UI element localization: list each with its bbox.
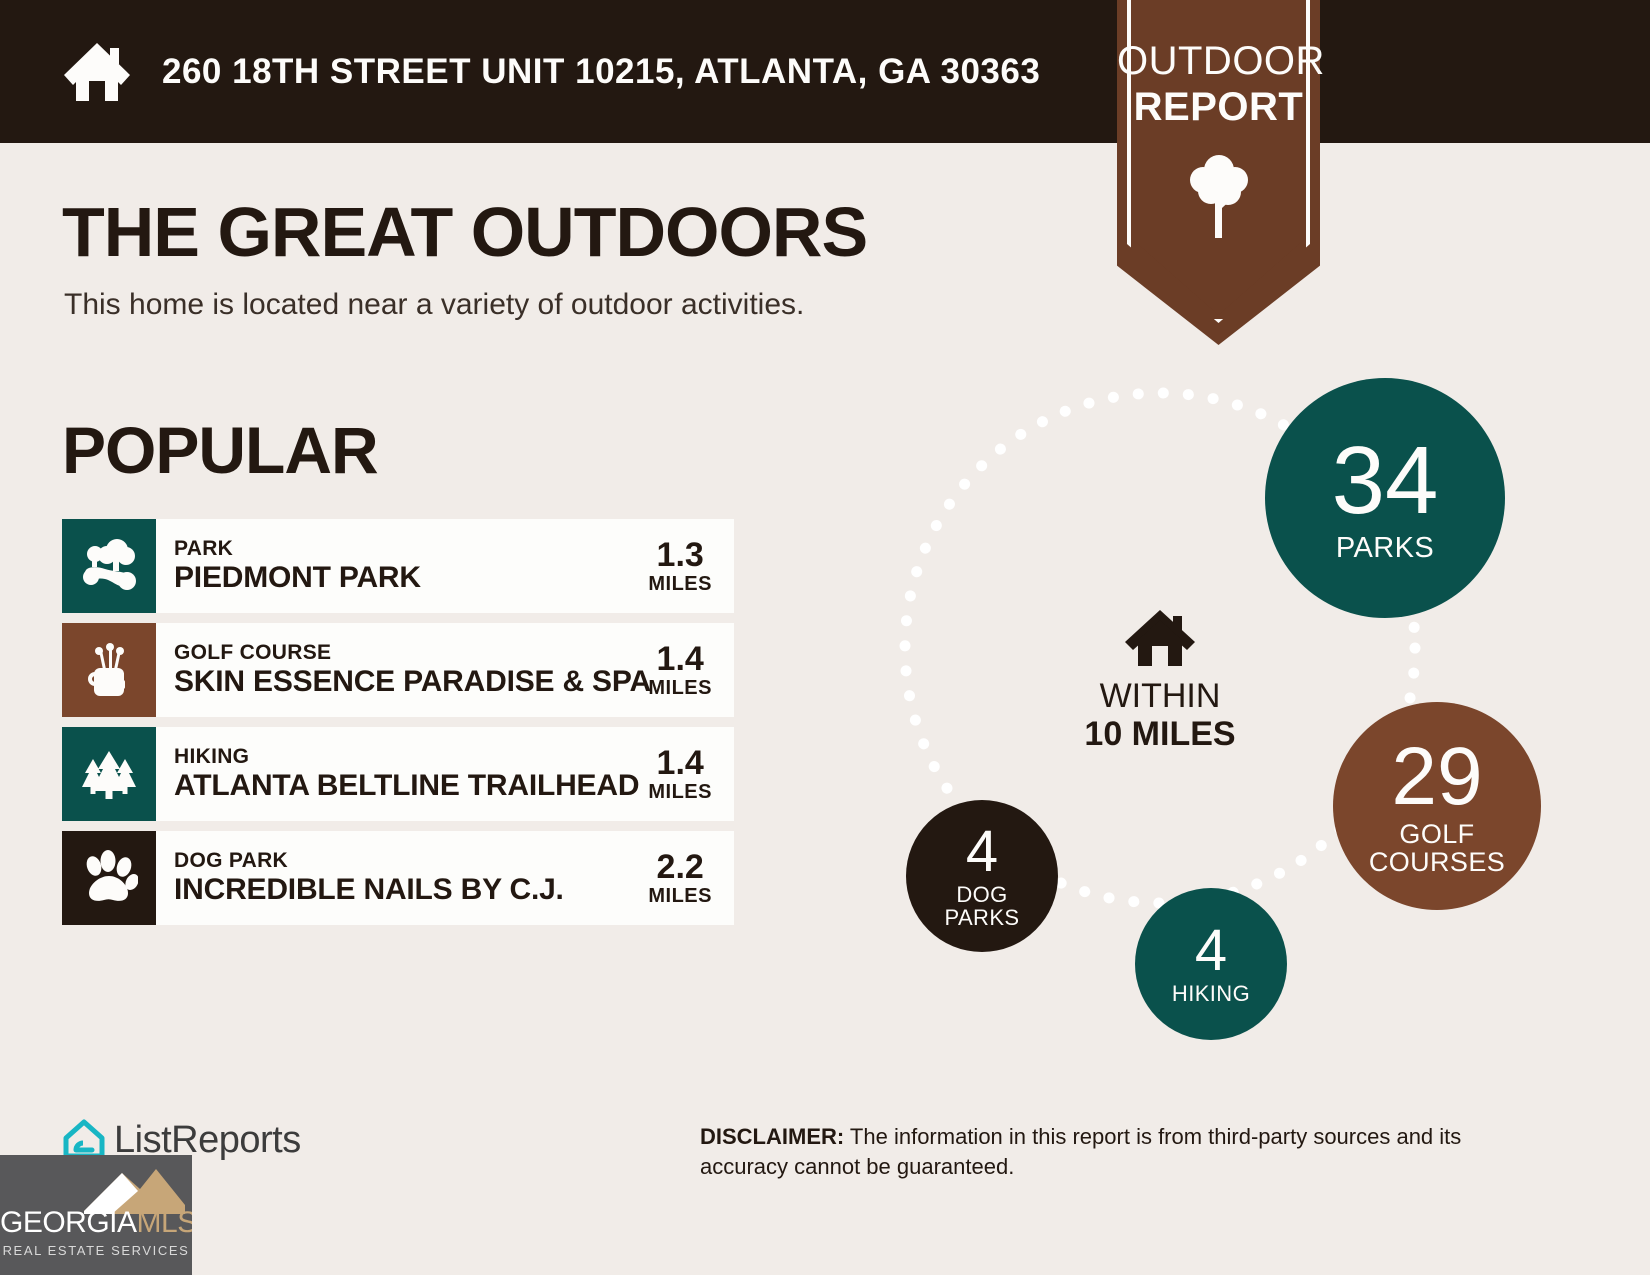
disclaimer: DISCLAIMER: The information in this repo… bbox=[700, 1122, 1510, 1182]
bubble-label-line-2: COURSES bbox=[1369, 848, 1505, 876]
list-item[interactable]: PARK PIEDMONT PARK 1.3 MILES bbox=[62, 519, 734, 613]
list-item-category: HIKING bbox=[174, 745, 642, 769]
bubble-value: 29 bbox=[1391, 736, 1482, 818]
bubble-label-line-1: DOG bbox=[945, 883, 1020, 906]
property-address: 260 18TH STREET UNIT 10215, ATLANTA, GA … bbox=[162, 52, 1040, 92]
home-icon bbox=[60, 35, 134, 109]
bubble-label: GOLF COURSES bbox=[1369, 820, 1505, 877]
list-item-distance: 1.4 MILES bbox=[642, 745, 728, 804]
georgia-mls-wordmark: GEORGIAMLS bbox=[0, 1207, 192, 1239]
bubble-value: 4 bbox=[966, 823, 998, 881]
bubble-label: DOG PARKS bbox=[945, 883, 1020, 929]
georgia-mls-word-1: GEORGIA bbox=[0, 1206, 137, 1239]
distance-unit: MILES bbox=[648, 885, 712, 908]
park-tree-icon bbox=[62, 519, 156, 613]
distance-value: 1.4 bbox=[648, 641, 712, 677]
list-item-category: GOLF COURSE bbox=[174, 641, 642, 665]
distance-unit: MILES bbox=[648, 677, 712, 700]
badge-line-1: OUTDOOR bbox=[1117, 38, 1320, 84]
list-item-distance: 1.3 MILES bbox=[642, 537, 728, 596]
georgia-mls-logo: GEORGIAMLS REAL ESTATE SERVICES bbox=[0, 1155, 192, 1275]
distance-value: 1.4 bbox=[648, 745, 712, 781]
bubble-dog-parks[interactable]: 4 DOG PARKS bbox=[906, 800, 1058, 952]
list-item-name: PIEDMONT PARK bbox=[174, 561, 642, 595]
page-title: THE GREAT OUTDOORS bbox=[62, 192, 867, 272]
popular-heading: POPULAR bbox=[62, 412, 378, 488]
bubble-label: PARKS bbox=[1336, 533, 1434, 563]
list-item-name: INCREDIBLE NAILS BY C.J. bbox=[174, 873, 642, 907]
georgia-mls-tagline: REAL ESTATE SERVICES bbox=[0, 1243, 192, 1258]
list-item[interactable]: GOLF COURSE SKIN ESSENCE PARADISE & SPA … bbox=[62, 623, 734, 717]
header-bar: 260 18TH STREET UNIT 10215, ATLANTA, GA … bbox=[0, 0, 1650, 143]
bubble-label-line-2: PARKS bbox=[945, 906, 1020, 929]
distance-unit: MILES bbox=[648, 573, 712, 596]
bubble-value: 34 bbox=[1332, 433, 1439, 529]
page-subtitle: This home is located near a variety of o… bbox=[64, 288, 804, 322]
list-item-distance: 2.2 MILES bbox=[642, 849, 728, 908]
bubble-label: HIKING bbox=[1172, 982, 1250, 1005]
bubble-label-line-1: GOLF bbox=[1369, 820, 1505, 848]
georgia-mls-word-2: MLS bbox=[137, 1206, 192, 1239]
list-item-name: ATLANTA BELTLINE TRAILHEAD bbox=[174, 769, 642, 803]
distance-value: 2.2 bbox=[648, 849, 712, 885]
home-icon bbox=[1060, 608, 1260, 673]
list-item-name: SKIN ESSENCE PARADISE & SPA bbox=[174, 665, 642, 699]
tree-icon bbox=[1117, 150, 1320, 247]
distance-value: 1.3 bbox=[648, 537, 712, 573]
cluster-center-line-2: 10 MILES bbox=[1060, 715, 1260, 753]
cluster-center: WITHIN 10 MILES bbox=[1060, 608, 1260, 753]
popular-list: PARK PIEDMONT PARK 1.3 MILES bbox=[62, 519, 734, 935]
bubble-value: 4 bbox=[1195, 922, 1227, 980]
distance-unit: MILES bbox=[648, 781, 712, 804]
pine-trees-icon bbox=[62, 727, 156, 821]
golf-bag-icon bbox=[62, 623, 156, 717]
cluster-center-line-1: WITHIN bbox=[1060, 677, 1260, 715]
badge-title: OUTDOOR REPORT bbox=[1117, 38, 1320, 130]
list-item[interactable]: DOG PARK INCREDIBLE NAILS BY C.J. 2.2 MI… bbox=[62, 831, 734, 925]
disclaimer-label: DISCLAIMER: bbox=[700, 1124, 844, 1149]
bubble-hiking[interactable]: 4 HIKING bbox=[1135, 888, 1287, 1040]
list-item-distance: 1.4 MILES bbox=[642, 641, 728, 700]
bubble-golf-courses[interactable]: 29 GOLF COURSES bbox=[1333, 702, 1541, 910]
outdoor-report-badge: OUTDOOR REPORT bbox=[1117, 0, 1320, 345]
bubble-parks[interactable]: 34 PARKS bbox=[1265, 378, 1505, 618]
paw-print-icon bbox=[62, 831, 156, 925]
list-item-category: DOG PARK bbox=[174, 849, 642, 873]
badge-line-2: REPORT bbox=[1117, 84, 1320, 130]
list-item-category: PARK bbox=[174, 537, 642, 561]
outdoor-report-page: 260 18TH STREET UNIT 10215, ATLANTA, GA … bbox=[0, 0, 1650, 1275]
list-item[interactable]: HIKING ATLANTA BELTLINE TRAILHEAD 1.4 MI… bbox=[62, 727, 734, 821]
amenities-bubble-chart: 34 PARKS 29 GOLF COURSES 4 HIKING 4 DOG … bbox=[830, 360, 1590, 1040]
